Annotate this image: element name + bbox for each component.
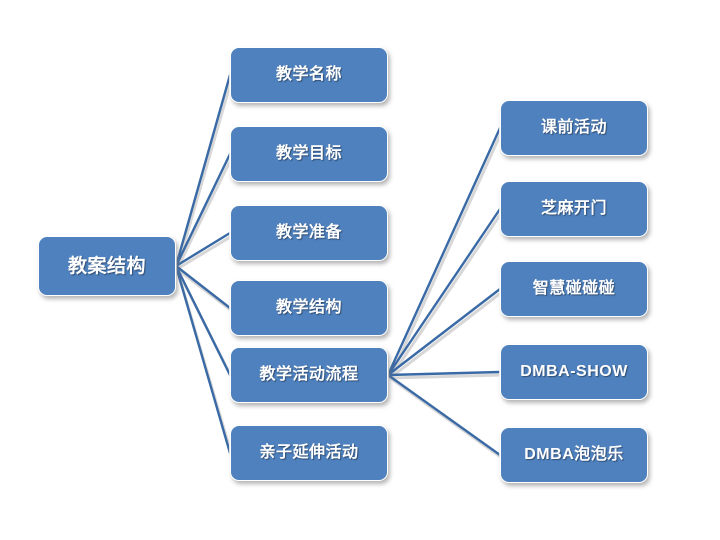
node-level1-teaching-goal-label: 教学目标 [276,146,342,162]
connector-level1-to-level2-1 [388,209,500,375]
diagram-canvas: 教案结构 教学名称 教学目标 教学准备 教学结构 教学活动流程 亲子延伸活动 课… [0,0,720,540]
node-level1-teaching-structure-label: 教学结构 [276,300,342,316]
node-level1-teaching-name-label: 教学名称 [276,67,342,83]
node-level1-teaching-name[interactable]: 教学名称 [230,47,388,103]
node-level1-activity-flow[interactable]: 教学活动流程 [230,347,388,403]
node-level2-dmba-bubble[interactable]: DMBA泡泡乐 [500,427,648,483]
node-level1-activity-flow-label: 教学活动流程 [259,367,358,383]
node-level2-open-sesame[interactable]: 芝麻开门 [500,181,648,237]
node-root-label: 教案结构 [68,257,146,276]
node-level2-open-sesame-label: 芝麻开门 [541,201,607,217]
connector-root-to-level1-2 [176,233,230,266]
node-level2-wisdom-clash-label: 智慧碰碰碰 [533,281,616,297]
node-level2-dmba-show[interactable]: DMBA-SHOW [500,344,648,400]
connector-root-to-level1-4 [176,266,230,375]
node-level2-pre-class-activity[interactable]: 课前活动 [500,100,648,156]
node-level2-wisdom-clash[interactable]: 智慧碰碰碰 [500,261,648,317]
node-level2-dmba-show-label: DMBA-SHOW [520,364,628,380]
node-level2-dmba-bubble-label: DMBA泡泡乐 [524,447,624,463]
node-level1-teaching-prep-label: 教学准备 [276,225,342,241]
connector-level1-to-level2-2 [388,289,500,375]
connector-root-to-level1-3 [176,266,230,308]
node-level1-teaching-structure[interactable]: 教学结构 [230,280,388,336]
connector-level1-to-level2-0 [388,128,500,375]
node-level1-teaching-goal[interactable]: 教学目标 [230,126,388,182]
node-level2-pre-class-activity-label: 课前活动 [541,120,607,136]
node-level1-parent-child-activity[interactable]: 亲子延伸活动 [230,425,388,481]
connector-root-to-level1-0 [176,75,230,266]
node-level1-parent-child-activity-label: 亲子延伸活动 [259,445,358,461]
connector-level1-to-level2-3 [388,372,500,375]
node-level1-teaching-prep[interactable]: 教学准备 [230,205,388,261]
node-root[interactable]: 教案结构 [38,236,176,296]
connector-root-to-level1-1 [176,154,230,266]
connector-root-to-level1-5 [176,266,230,453]
connector-level1-to-level2-4 [388,375,500,455]
